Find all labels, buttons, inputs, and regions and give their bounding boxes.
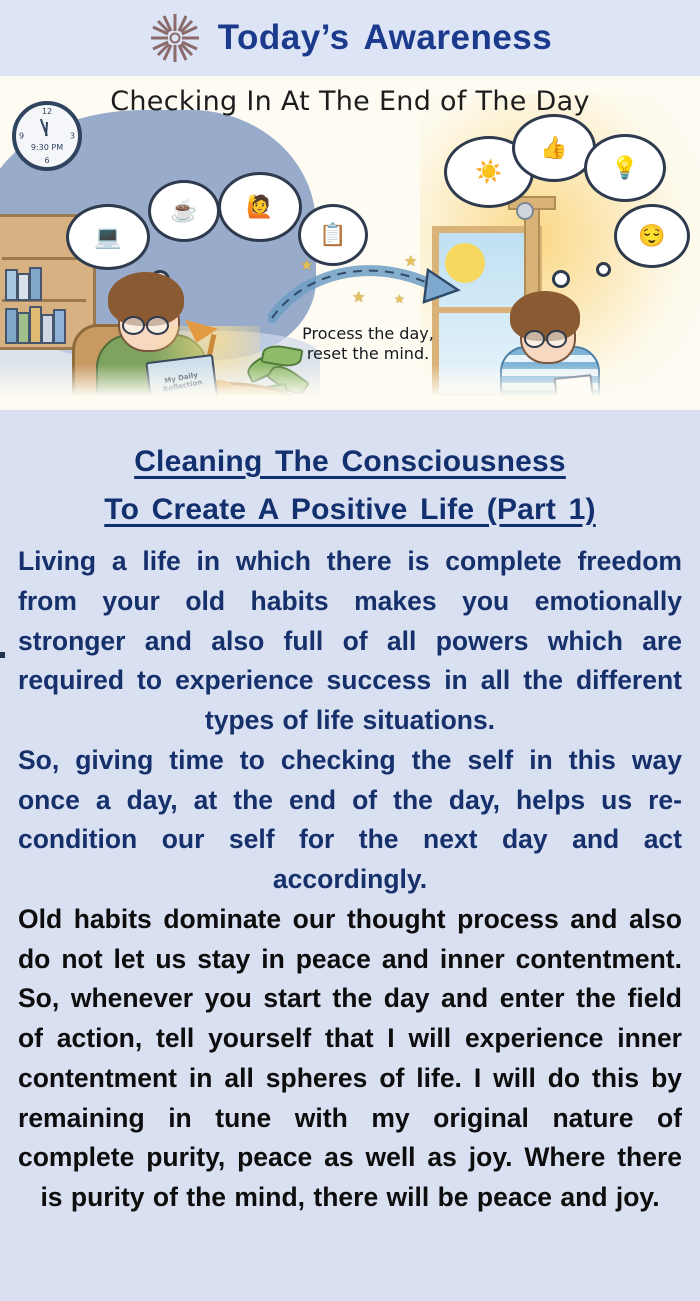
- thought-bubble-coffee: ☕: [148, 180, 220, 242]
- thought-bubble-lightbulb: 💡: [584, 134, 666, 202]
- spacer: [10, 534, 690, 542]
- star-icon: ★: [300, 256, 313, 274]
- right-person-glasses: [546, 330, 567, 348]
- article-paragraph: So, giving time to checking the self in …: [10, 741, 690, 900]
- edge-marker: [0, 652, 5, 658]
- transition-arrow: [268, 256, 464, 326]
- page-header: Today’s Awareness: [0, 0, 700, 76]
- shelf-divider: [2, 257, 86, 260]
- calm-face-icon: 😌: [638, 225, 665, 247]
- article-title: Cleaning The Consciousness To Create A P…: [10, 438, 690, 534]
- thumbs-up-icon: 👍: [540, 137, 567, 159]
- crossed-out-calendar-icon: 📋: [319, 224, 346, 246]
- article-body: Cleaning The Consciousness To Create A P…: [0, 414, 700, 1301]
- center-caption-line2: reset the mind.: [268, 344, 468, 364]
- center-caption: Process the day, reset the mind.: [268, 324, 468, 364]
- sun-icon: ☀️: [475, 161, 502, 183]
- header-title: Today’s Awareness: [218, 18, 552, 58]
- illustration-fade: [0, 364, 700, 410]
- article-paragraph: Living a life in which there is complete…: [10, 542, 690, 741]
- window-knob: [516, 202, 534, 220]
- book: [53, 309, 66, 344]
- right-person-hair: [510, 291, 580, 341]
- thought-bubble-dot: [596, 262, 611, 277]
- article-title-line2: To Create A Positive Life (Part 1): [10, 486, 690, 534]
- thought-bubble-calm: 😌: [614, 204, 690, 268]
- lightbulb-icon: 💡: [611, 157, 638, 179]
- book: [29, 267, 42, 301]
- right-person-glasses: [524, 330, 545, 348]
- star-icon: ★: [404, 252, 417, 270]
- thought-bubble-laptop: 💻: [66, 204, 150, 270]
- clock-time-label: 9:30 PM: [31, 143, 63, 152]
- left-person-hair: [108, 272, 184, 326]
- left-person-glasses: [122, 316, 145, 335]
- article-title-line1: Cleaning The Consciousness: [10, 438, 690, 486]
- page-root: Today’s Awareness Checking In At The End…: [0, 0, 700, 1301]
- left-person-glasses: [146, 316, 169, 335]
- thought-bubble-dot: [552, 270, 570, 288]
- article-paragraph: Old habits dominate our thought process …: [10, 900, 690, 1218]
- coffee-cup-icon: ☕: [170, 200, 197, 222]
- laptop-frustration-icon: 💻: [94, 226, 121, 248]
- sunburst-icon: [148, 11, 202, 65]
- star-icon: ★: [394, 292, 405, 306]
- thought-bubble-person: 🙋: [218, 172, 302, 242]
- illustration-heading: Checking In At The End of The Day: [0, 86, 700, 117]
- center-caption-line1: Process the day,: [268, 324, 468, 344]
- clock-numeral-6: 6: [44, 156, 49, 165]
- person-waving-icon: 🙋: [246, 196, 273, 218]
- illustration-banner: Checking In At The End of The Day 12 3 6…: [0, 76, 700, 410]
- star-icon: ★: [352, 288, 365, 306]
- clock-numeral-9: 9: [19, 132, 24, 141]
- clock-numeral-3: 3: [70, 132, 75, 141]
